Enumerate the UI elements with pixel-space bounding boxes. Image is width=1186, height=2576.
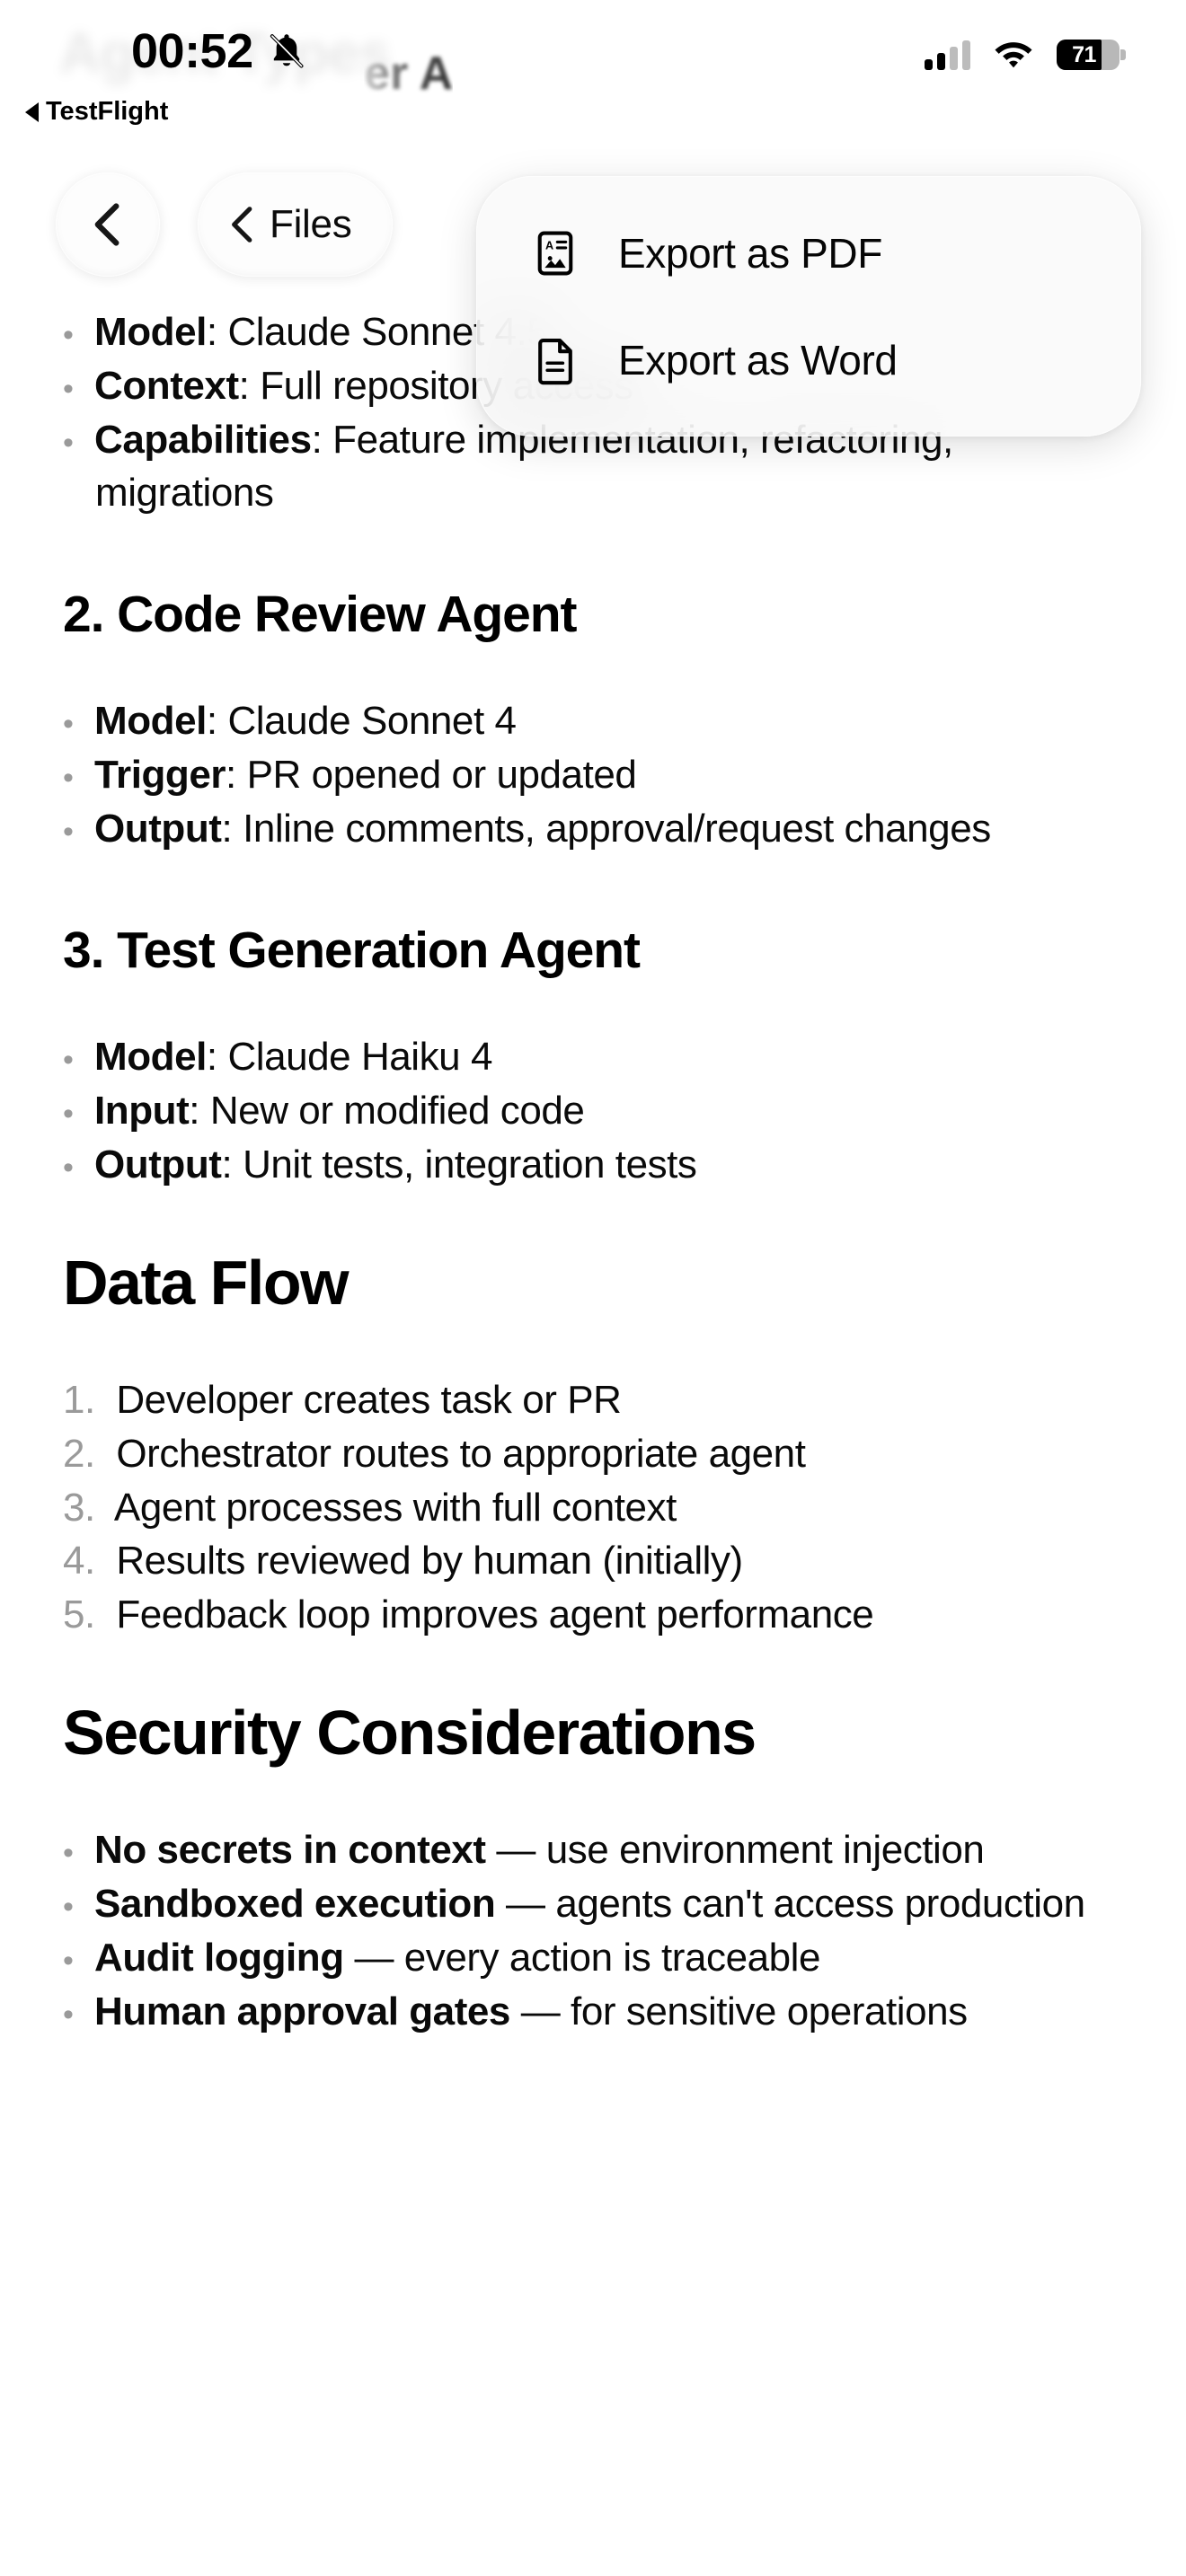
status-bar-right: 71	[925, 40, 1120, 70]
list-item: 5. Feedback loop improves agent performa…	[63, 1588, 1123, 1642]
bullet-desc: Inline comments, approval/request change…	[243, 807, 991, 851]
step-number: 3.	[63, 1486, 95, 1530]
bullet-marker: •	[63, 426, 73, 460]
bullet-desc: — every action is traceable	[354, 1936, 820, 1980]
list-item: • Trigger: PR opened or updated	[63, 748, 1123, 802]
bullet-desc: — for sensitive operations	[521, 1989, 968, 2033]
security-heading: Security Considerations	[63, 1698, 1123, 1768]
bullet-term: No secrets in context	[94, 1828, 486, 1872]
wifi-icon	[994, 40, 1033, 70]
bullet-desc: — agents can't access production	[506, 1882, 1085, 1926]
bullet-term: Output	[94, 1142, 221, 1187]
menu-item-export-word[interactable]: Export as Word	[476, 315, 1141, 405]
security-bullet-list: • No secrets in context — use environmen…	[63, 1823, 1123, 2038]
step-text: Results reviewed by human (initially)	[116, 1539, 742, 1583]
bullet-term: Capabilities	[94, 418, 312, 462]
menu-item-export-pdf[interactable]: A Export as PDF	[476, 208, 1141, 298]
bullet-term: Input	[94, 1089, 189, 1133]
chevron-left-icon	[91, 201, 125, 248]
document-image-icon: A	[530, 228, 580, 278]
bullet-marker: •	[63, 1998, 73, 2032]
svg-text:A: A	[545, 239, 553, 251]
list-item: • No secrets in context — use environmen…	[63, 1823, 1123, 1877]
step-number: 5.	[63, 1592, 95, 1636]
section-3-bullet-list: • Model: Claude Haiku 4 • Input: New or …	[63, 1030, 1123, 1191]
list-item: 2. Orchestrator routes to appropriate ag…	[63, 1427, 1123, 1481]
bullet-marker: •	[63, 318, 73, 352]
bullet-term: Model	[94, 310, 207, 354]
bullet-marker: •	[63, 372, 73, 406]
nav-title-fragment: er A	[364, 47, 453, 101]
bullet-marker: •	[63, 1151, 73, 1185]
back-button[interactable]	[56, 172, 160, 277]
bullet-desc: Claude Sonnet 4	[227, 699, 516, 743]
menu-item-label: Export as PDF	[618, 229, 882, 278]
bullet-desc: New or modified code	[210, 1089, 585, 1133]
bullet-term: Human approval gates	[94, 1989, 510, 2033]
bullet-desc: Claude Haiku 4	[227, 1035, 492, 1079]
section-2-bullet-list: • Model: Claude Sonnet 4 • Trigger: PR o…	[63, 694, 1123, 855]
bullet-marker: •	[63, 1890, 73, 1924]
bullet-term: Model	[94, 699, 207, 743]
list-item: • Sandboxed execution — agents can't acc…	[63, 1877, 1123, 1931]
ghost-page-title: Agent Types	[59, 20, 390, 86]
step-text: Orchestrator routes to appropriate agent	[116, 1432, 805, 1476]
testflight-return-link[interactable]: TestFlight	[25, 97, 168, 127]
list-item: • Model: Claude Sonnet 4	[63, 694, 1123, 748]
files-breadcrumb-label: Files	[270, 202, 351, 247]
bullet-marker: •	[63, 707, 73, 741]
section-2-heading: 2. Code Review Agent	[63, 585, 1123, 644]
step-text: Feedback loop improves agent performance	[116, 1592, 873, 1636]
list-item: • Human approval gates — for sensitive o…	[63, 1985, 1123, 2039]
step-number: 2.	[63, 1432, 95, 1476]
export-menu: A Export as PDF Export as Word	[476, 176, 1141, 437]
section-3-heading: 3. Test Generation Agent	[63, 921, 1123, 980]
step-text: Agent processes with full context	[114, 1486, 677, 1530]
chevron-left-icon	[228, 205, 257, 244]
phone-screen: Agent Types 00:52	[0, 0, 1186, 2576]
battery-icon: 71	[1057, 40, 1120, 70]
files-breadcrumb-button[interactable]: Files	[198, 172, 393, 277]
list-item: 4. Results reviewed by human (initially)	[63, 1534, 1123, 1588]
list-item: • Output: Unit tests, integration tests	[63, 1138, 1123, 1192]
document-content: • Model: Claude Sonnet 4.5 • Context: Fu…	[0, 305, 1186, 2039]
list-item: 1. Developer creates task or PR	[63, 1373, 1123, 1427]
list-item: • Input: New or modified code	[63, 1084, 1123, 1138]
back-triangle-icon	[25, 102, 39, 122]
battery-percent: 71	[1057, 40, 1120, 70]
document-lines-icon	[530, 335, 580, 385]
bullet-term: Output	[94, 807, 221, 851]
bullet-desc: PR opened or updated	[247, 753, 637, 797]
step-number: 4.	[63, 1539, 95, 1583]
bullet-term: Context	[94, 364, 239, 408]
step-text: Developer creates task or PR	[116, 1378, 621, 1422]
bullet-marker: •	[63, 1097, 73, 1131]
bullet-term: Trigger	[94, 753, 226, 797]
bullet-desc: — use environment injection	[496, 1828, 984, 1872]
bullet-term: Model	[94, 1035, 207, 1079]
list-item: 3. Agent processes with full context	[63, 1481, 1123, 1535]
menu-item-label: Export as Word	[618, 336, 898, 384]
bullet-marker: •	[63, 1836, 73, 1870]
list-item: • Model: Claude Haiku 4	[63, 1030, 1123, 1084]
list-item: • Output: Inline comments, approval/requ…	[63, 802, 1123, 856]
cellular-signal-icon	[925, 40, 970, 70]
bullet-marker: •	[63, 1043, 73, 1077]
bullet-marker: •	[63, 761, 73, 795]
data-flow-heading: Data Flow	[63, 1248, 1123, 1318]
testflight-return-label: TestFlight	[46, 97, 168, 127]
bullet-marker: •	[63, 815, 73, 849]
data-flow-step-list: 1. Developer creates task or PR 2. Orche…	[63, 1373, 1123, 1642]
bullet-marker: •	[63, 1944, 73, 1978]
bullet-term: Sandboxed execution	[94, 1882, 495, 1926]
step-number: 1.	[63, 1378, 95, 1422]
bullet-desc: Unit tests, integration tests	[243, 1142, 696, 1187]
list-item: • Audit logging — every action is tracea…	[63, 1931, 1123, 1985]
bullet-term: Audit logging	[94, 1936, 344, 1980]
